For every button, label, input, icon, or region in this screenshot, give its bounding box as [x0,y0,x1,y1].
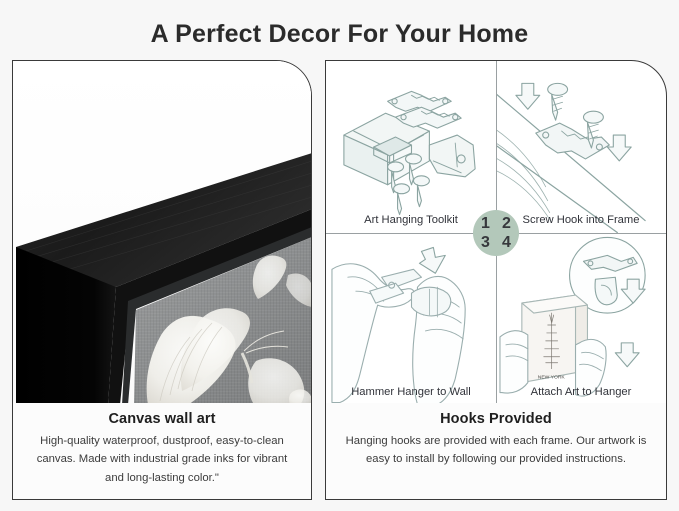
framed-canvas-illustration [13,61,311,405]
svg-text:NEW YORK: NEW YORK [538,375,566,381]
badge-number-1: 1 [481,216,490,232]
right-caption: Hooks Provided Hanging hooks are provide… [326,403,666,499]
canvas-wall-art-photo [13,61,311,405]
step-3-label: Hammer Hanger to Wall [326,386,496,398]
badge-number-2: 2 [502,216,511,232]
step-4-label: Attach Art to Hanger [496,386,666,398]
left-product-panel: Canvas wall art High-quality waterproof,… [12,60,312,500]
step-4-attach-art-to-hanger: NEW YORK Attach Art to Hanger [496,233,666,405]
step-1-label: Art Hanging Toolkit [326,214,496,226]
hands-canvas-magnified-hook-arrow-icon: NEW YORK [496,233,666,405]
hands-hammer-hanger-arrow-icon [326,233,496,405]
page-title: A Perfect Decor For Your Home [0,20,679,49]
left-caption-body: High-quality waterproof, dustproof, easy… [27,432,297,487]
step-3-hammer-hanger-to-wall: Hammer Hanger to Wall [326,233,496,405]
step-number-badge: 1 2 3 4 [473,210,519,256]
right-caption-body: Hanging hooks are provided with each fra… [340,432,652,469]
step-1-art-hanging-toolkit: Art Hanging Toolkit [326,61,496,233]
badge-number-3: 3 [481,235,490,251]
step-2-label: Screw Hook into Frame [496,214,666,226]
right-instructions-panel: Art Hanging Toolkit [325,60,667,500]
right-caption-title: Hooks Provided [340,411,652,427]
step-2-screw-hook-into-frame: Screw Hook into Frame [496,61,666,233]
hanging-instructions-grid: Art Hanging Toolkit [326,61,666,405]
screws-sawtooth-hanger-frame-edge-arrows-icon [496,61,666,233]
toolkit-box-hangers-screws-icon [326,61,496,233]
left-caption: Canvas wall art High-quality waterproof,… [13,403,311,499]
left-caption-title: Canvas wall art [27,411,297,427]
badge-number-4: 4 [502,235,511,251]
